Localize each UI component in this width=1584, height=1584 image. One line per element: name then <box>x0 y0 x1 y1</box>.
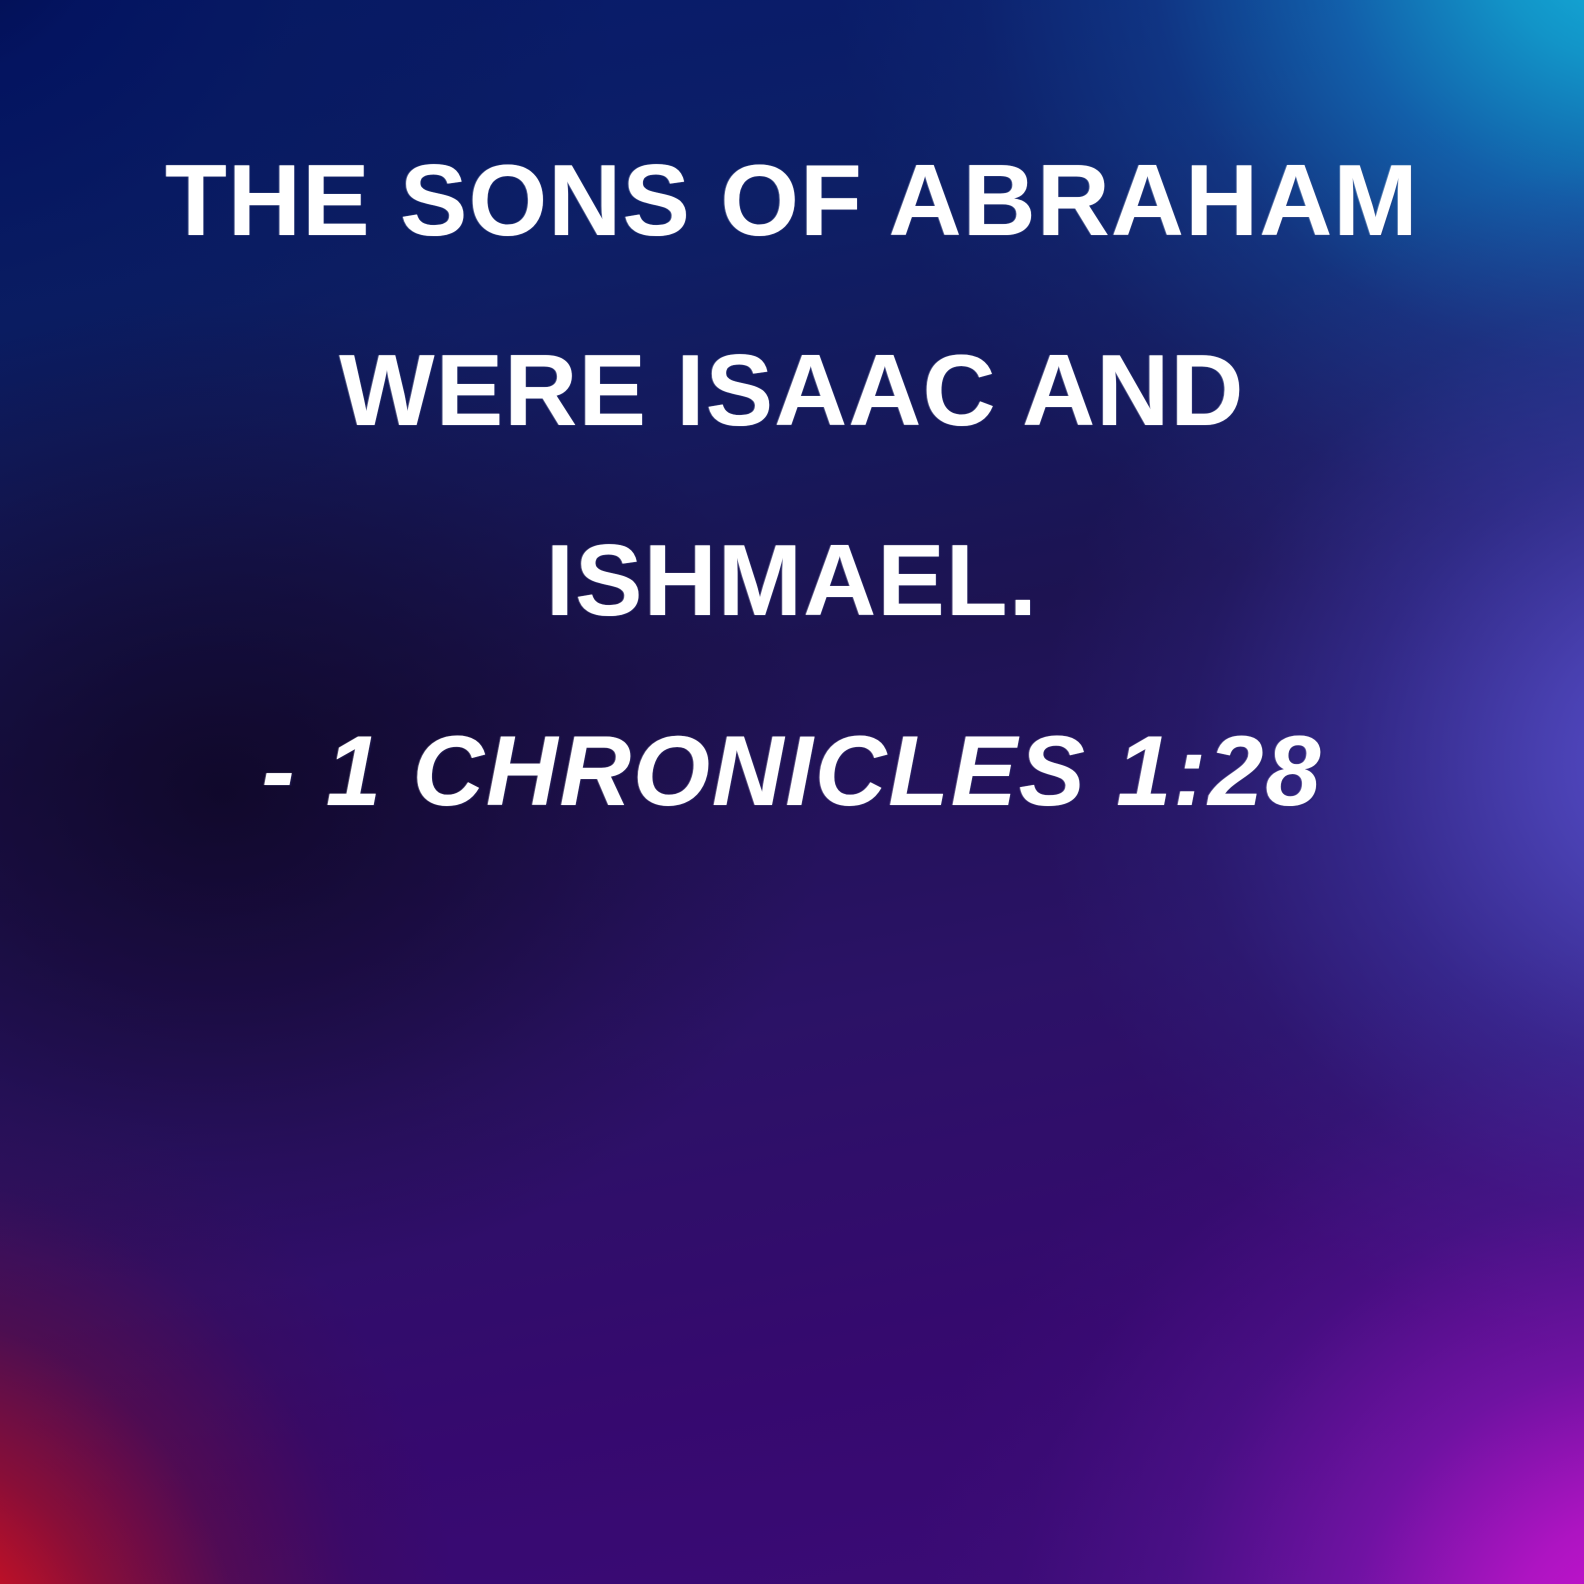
verse-line-2: WERE ISAAC AND <box>339 296 1244 486</box>
verse-attribution: - 1 CHRONICLES 1:28 <box>262 676 1323 866</box>
verse-line-3: ISHMAEL. <box>546 486 1038 676</box>
verse-text-block: THE SONS OF ABRAHAM WERE ISAAC AND ISHMA… <box>0 106 1584 866</box>
verse-card: THE SONS OF ABRAHAM WERE ISAAC AND ISHMA… <box>0 0 1584 1584</box>
verse-line-1: THE SONS OF ABRAHAM <box>165 106 1419 296</box>
